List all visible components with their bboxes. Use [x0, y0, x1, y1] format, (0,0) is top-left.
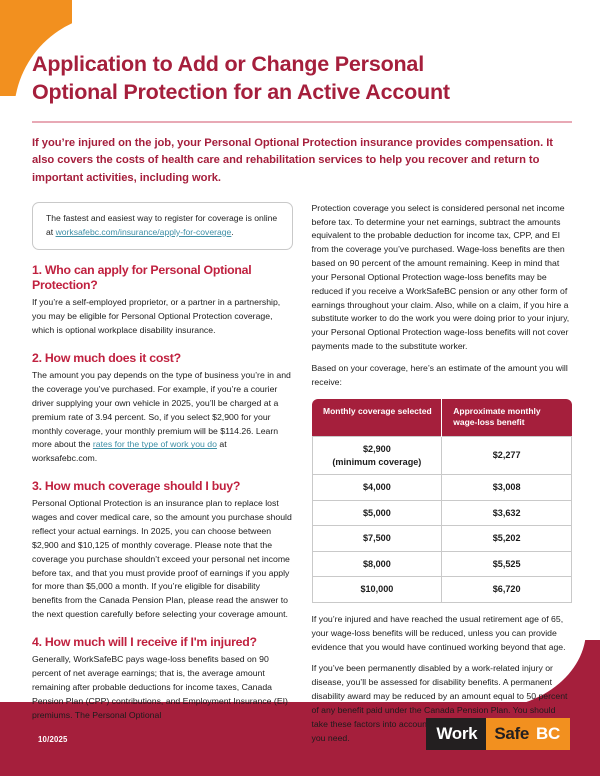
cell-benefit: $5,525 — [442, 551, 572, 577]
table-header-monthly-coverage: Monthly coverage selected — [312, 399, 442, 437]
cell-benefit: $3,008 — [442, 475, 572, 501]
document-page: Application to Add or Change Personal Op… — [0, 0, 600, 776]
section-1-paragraph: If you’re a self-employed proprietor, or… — [32, 296, 293, 337]
rates-for-type-of-work-link[interactable]: rates for the type of work you do — [93, 439, 217, 449]
section-3-paragraph: Personal Optional Protection is an insur… — [32, 497, 293, 621]
cell-coverage: $7,500 — [312, 526, 442, 552]
title-divider — [32, 121, 572, 123]
cell-coverage: $2,900(minimum coverage) — [312, 437, 442, 475]
table-row: $10,000 $6,720 — [312, 577, 572, 603]
logo-orange-block: Safe BC — [486, 718, 570, 750]
coverage-note: (minimum coverage) — [332, 457, 421, 467]
section-2-text-part-1: The amount you pay depends on the type o… — [32, 370, 291, 449]
section-heading-1: 1. Who can apply for Personal Optional P… — [32, 263, 293, 294]
table-row: $4,000 $3,008 — [312, 475, 572, 501]
logo-word-bc: BC — [536, 724, 560, 744]
right-column-paragraph-1: Protection coverage you select is consid… — [312, 202, 573, 354]
logo-word-work: Work — [426, 718, 486, 750]
table-row: $8,000 $5,525 — [312, 551, 572, 577]
cell-benefit: $3,632 — [442, 500, 572, 526]
cell-coverage: $4,000 — [312, 475, 442, 501]
table-header-wage-loss-benefit: Approximate monthly wage-loss benefit — [442, 399, 572, 437]
apply-for-coverage-link[interactable]: worksafebc.com/insurance/apply-for-cover… — [56, 227, 232, 237]
table-row: $7,500 $5,202 — [312, 526, 572, 552]
intro-lede: If you’re injured on the job, your Perso… — [32, 135, 572, 188]
section-heading-2: 2. How much does it cost? — [32, 351, 293, 366]
coverage-amount: $2,900 — [363, 444, 391, 454]
online-registration-callout: The fastest and easiest way to register … — [32, 202, 293, 250]
table-row: $5,000 $3,632 — [312, 500, 572, 526]
section-heading-4: 4. How much will I receive if I'm injure… — [32, 635, 293, 650]
page-title-line-1: Application to Add or Change Personal — [32, 52, 424, 76]
page-title-line-2: Optional Protection for an Active Accoun… — [32, 80, 450, 104]
wage-loss-benefit-table: Monthly coverage selected Approximate mo… — [312, 399, 573, 603]
callout-text-after: . — [231, 227, 233, 237]
page-title: Application to Add or Change Personal Op… — [32, 50, 572, 107]
right-column-paragraph-2: Based on your coverage, here’s an estima… — [312, 362, 573, 390]
cell-benefit: $2,277 — [442, 437, 572, 475]
cell-benefit: $5,202 — [442, 526, 572, 552]
footer-revision-date: 10/2025 — [38, 735, 68, 744]
logo-word-safe: Safe — [494, 724, 529, 744]
section-2-paragraph: The amount you pay depends on the type o… — [32, 369, 293, 466]
cell-coverage: $8,000 — [312, 551, 442, 577]
left-column: The fastest and easiest way to register … — [32, 202, 293, 746]
section-heading-3: 3. How much coverage should I buy? — [32, 479, 293, 494]
cell-coverage: $10,000 — [312, 577, 442, 603]
two-column-body: The fastest and easiest way to register … — [32, 202, 572, 746]
right-column-paragraph-3: If you’re injured and have reached the u… — [312, 613, 573, 654]
worksafebc-logo: Work Safe BC — [426, 718, 570, 750]
cell-benefit: $6,720 — [442, 577, 572, 603]
cell-coverage: $5,000 — [312, 500, 442, 526]
table-header-row: Monthly coverage selected Approximate mo… — [312, 399, 572, 437]
footer: 10/2025 Work Safe BC — [0, 702, 600, 776]
table-row: $2,900(minimum coverage) $2,277 — [312, 437, 572, 475]
right-column: Protection coverage you select is consid… — [312, 202, 573, 746]
